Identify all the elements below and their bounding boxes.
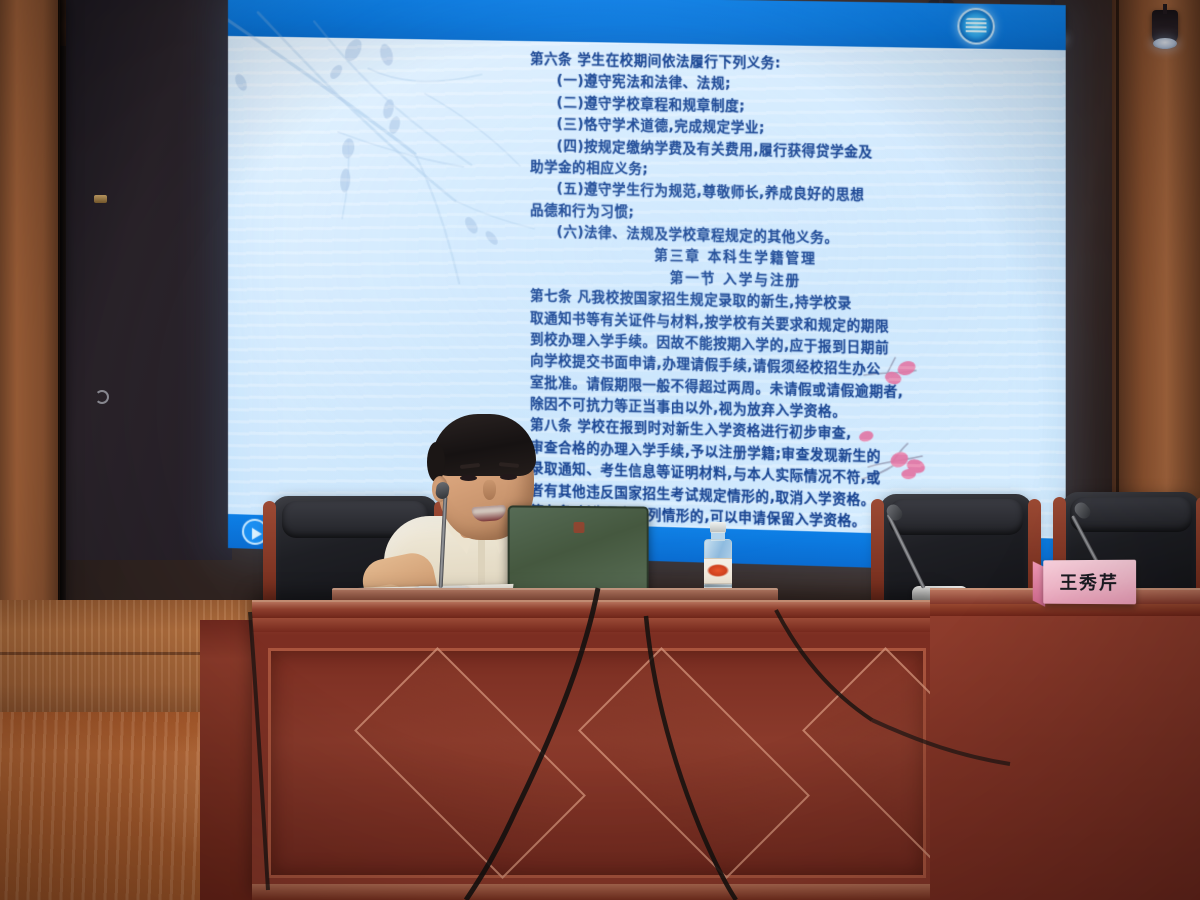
- wall-knob: [95, 390, 109, 404]
- plum-branch-watermark: [228, 10, 551, 348]
- microphone: [414, 486, 474, 602]
- desk-top-lip: [252, 600, 942, 618]
- speaker-hair: [432, 414, 536, 476]
- name-plate-face: 王秀芹: [1043, 560, 1136, 605]
- name-plate: 王秀芹: [1043, 560, 1136, 605]
- university-emblem-icon: [957, 8, 994, 45]
- microphone: [912, 498, 972, 602]
- bottle-label: [704, 558, 732, 584]
- lecture-hall-scene: 第六条 学生在校期间依法履行下列义务:(一)遵守宪法和法律、法规;(二)遵守学校…: [0, 0, 1200, 900]
- panel-diamond: [578, 647, 810, 879]
- pillar-left-seam: [58, 0, 66, 640]
- panel-diamond: [354, 647, 586, 879]
- wall-panel-left: [66, 0, 232, 560]
- speaker-nose: [483, 480, 496, 500]
- desk-rail: [930, 604, 1200, 616]
- slide-top-bar: [228, 0, 1066, 50]
- projection-screen: 第六条 学生在校期间依法履行下列义务:(一)遵守宪法和法律、法规;(二)遵守学校…: [228, 0, 1066, 574]
- desk-right-section: [930, 588, 1200, 900]
- ceiling-spotlight: [1152, 10, 1178, 44]
- speaker-eye-right: [500, 474, 517, 480]
- podium-desk: [252, 600, 942, 900]
- name-plate-text: 王秀芹: [1060, 569, 1119, 595]
- desk-front-panel: [268, 648, 926, 878]
- speaker-eye-left: [460, 475, 477, 481]
- wall-hook: [94, 195, 107, 203]
- desk-rail: [252, 618, 942, 632]
- pillar-left: [0, 0, 60, 640]
- desk-base-trim: [252, 884, 942, 900]
